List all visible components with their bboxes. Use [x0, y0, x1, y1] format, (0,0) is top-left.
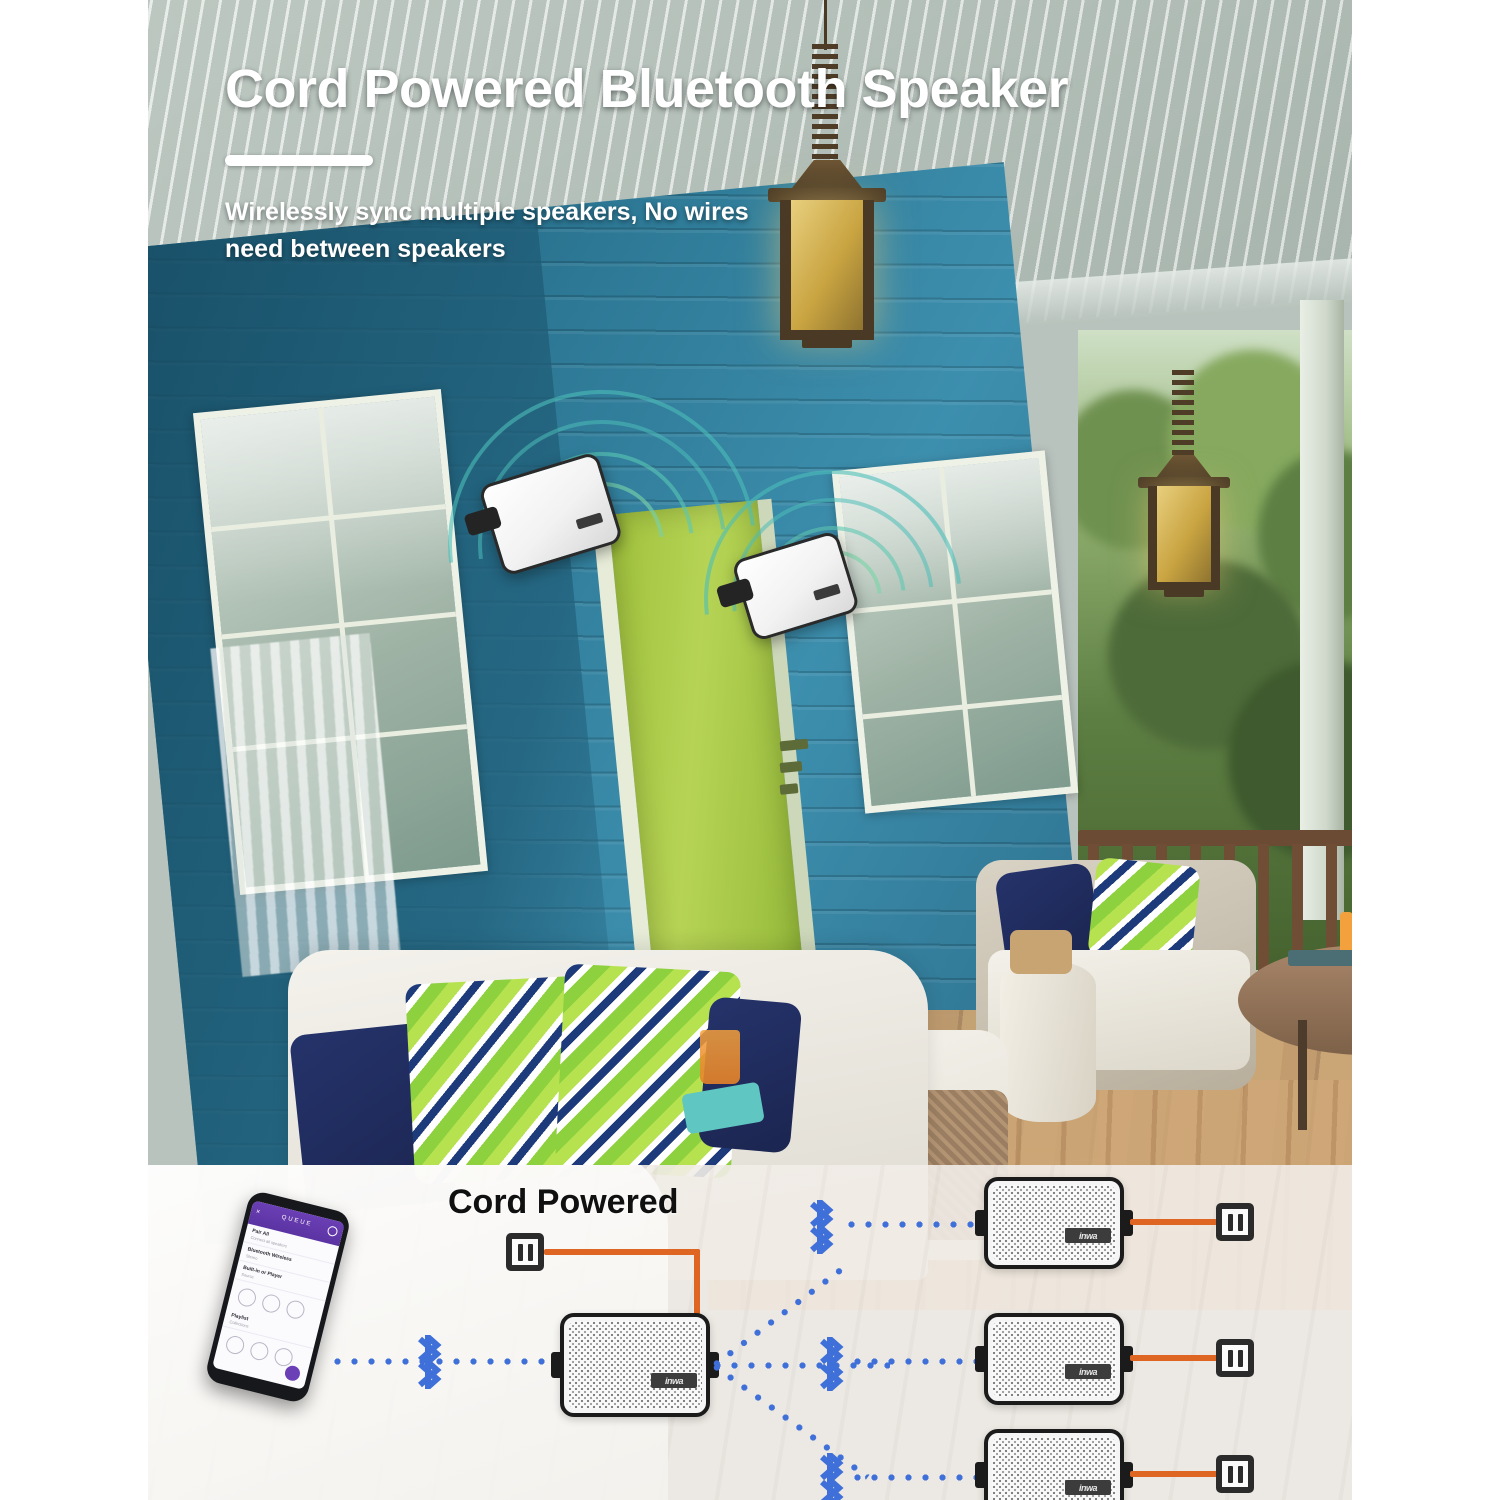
bluetooth-icon	[798, 1200, 842, 1254]
bluetooth-icon	[406, 1335, 450, 1389]
speaker-bracket-tab	[975, 1210, 988, 1236]
power-outlet-icon	[506, 1233, 544, 1271]
basket	[1010, 930, 1072, 974]
search-icon[interactable]	[326, 1225, 338, 1237]
power-cord	[1130, 1471, 1220, 1477]
bluetooth-link-1	[848, 1221, 980, 1228]
speaker-logo: inwa	[665, 1376, 683, 1386]
power-cord	[1130, 1355, 1220, 1361]
power-outlet-icon	[1216, 1203, 1254, 1241]
music-note-icon[interactable]	[260, 1293, 282, 1315]
speaker-logo: inwa	[1079, 1367, 1097, 1377]
power-cord	[1130, 1219, 1220, 1225]
satellite-speaker-1: inwa	[984, 1177, 1124, 1269]
satellite-speaker-3: inwa	[984, 1429, 1124, 1500]
porch-post	[1300, 300, 1344, 920]
product-marketing-image: Cord Powered Bluetooth Speaker Wirelessl…	[0, 0, 1500, 1500]
lantern-chain-left	[824, 0, 827, 50]
cord-powered-label: Cord Powered	[448, 1183, 678, 1222]
ceramic-stool	[1000, 962, 1096, 1122]
settings-icon[interactable]	[248, 1340, 270, 1362]
drink-glass	[700, 1030, 740, 1084]
speaker-bracket-tab	[975, 1462, 988, 1488]
speaker-bracket-tab	[975, 1346, 988, 1372]
settings-icon[interactable]	[236, 1287, 258, 1309]
window-curtain	[210, 633, 401, 977]
download-icon[interactable]	[285, 1299, 307, 1321]
bluetooth-icon	[808, 1337, 852, 1391]
primary-speaker: inwa	[560, 1313, 710, 1417]
title-divider	[225, 155, 373, 166]
subtitle: Wirelessly sync multiple speakers, No wi…	[225, 194, 785, 267]
power-outlet-icon	[1216, 1455, 1254, 1493]
serving-tray	[1288, 950, 1352, 966]
power-outlet-icon	[1216, 1339, 1254, 1377]
speaker-logo: inwa	[1079, 1483, 1097, 1493]
power-cord	[694, 1249, 700, 1317]
headline-block: Cord Powered Bluetooth Speaker Wirelessl…	[225, 60, 1225, 267]
satellite-speaker-2: inwa	[984, 1313, 1124, 1405]
door-hook	[780, 761, 803, 773]
bluetooth-icon	[808, 1453, 852, 1500]
bluetooth-link-3	[854, 1474, 980, 1481]
power-icon[interactable]	[224, 1334, 246, 1356]
page-title: Cord Powered Bluetooth Speaker	[225, 60, 1225, 119]
connection-diagram: × QUEUE Pair All Connect all speakers Bl…	[148, 1165, 1352, 1500]
bluetooth-link-2	[854, 1358, 980, 1365]
table-leg	[1298, 1020, 1307, 1130]
speaker-bracket-tab	[551, 1352, 564, 1378]
door-hook	[780, 783, 799, 795]
pendant-lantern-right	[1138, 455, 1230, 605]
power-cord	[544, 1249, 700, 1255]
speaker-logo: inwa	[1079, 1231, 1097, 1241]
lantern-chain-right	[1172, 370, 1194, 460]
